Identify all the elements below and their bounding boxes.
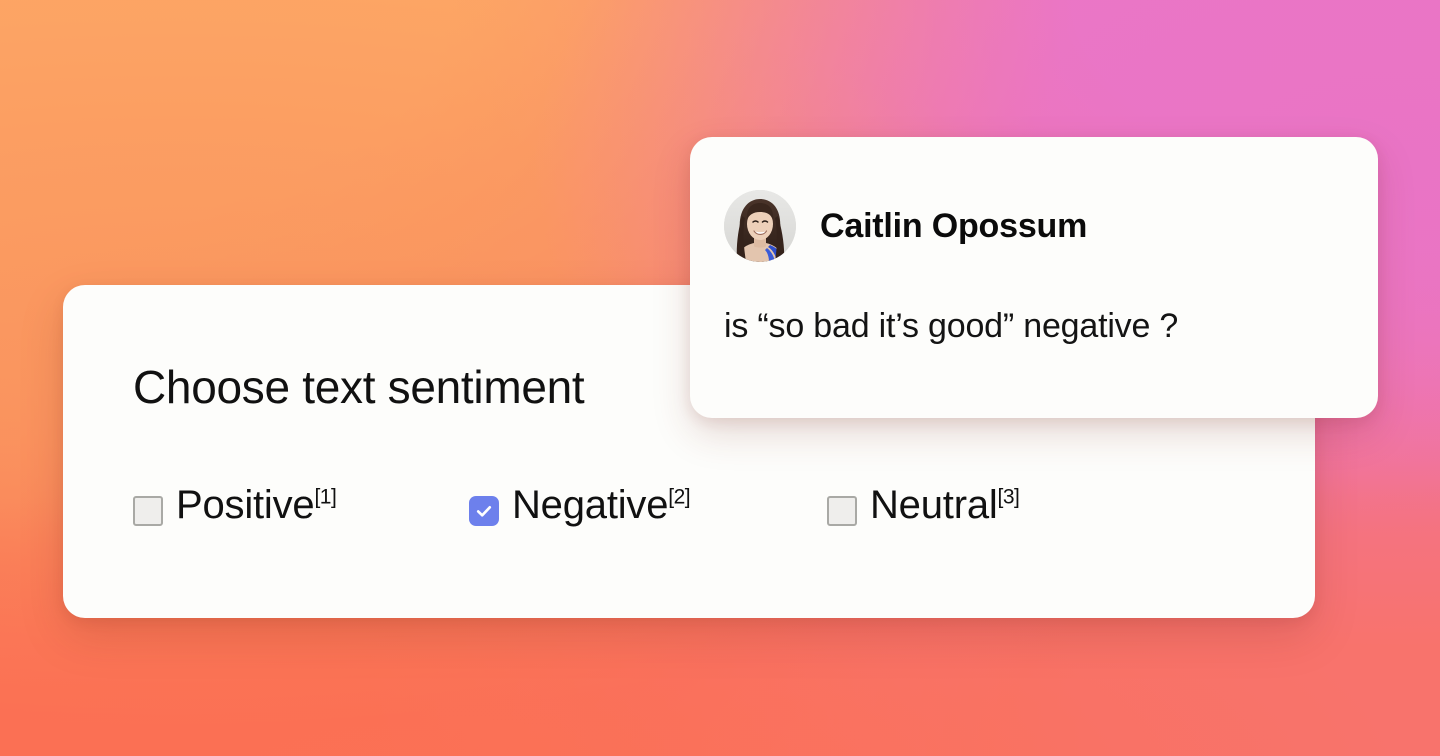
screenshot-canvas: Choose text sentiment Positive[1] Negati… [0,0,1440,756]
checkbox-unchecked-icon[interactable] [827,496,857,526]
message-body-text: is “so bad it’s good” negative ? [724,307,1178,346]
message-author-name: Caitlin Opossum [820,207,1087,246]
message-header: Caitlin Opossum [724,190,1087,262]
option-neutral-shortcut: [3] [998,486,1020,509]
option-neutral[interactable]: Neutral[3] [827,485,1127,526]
sentiment-options-group: Positive[1] Negative[2] Neutral[3] [133,485,1127,526]
option-neutral-label: Neutral[3] [870,485,1019,525]
avatar [724,190,796,262]
option-negative-shortcut: [2] [668,486,690,509]
option-negative-label: Negative[2] [512,485,690,525]
option-positive-text: Positive [176,483,314,527]
option-positive-shortcut: [1] [314,486,336,509]
option-neutral-text: Neutral [870,483,998,527]
option-positive-label: Positive[1] [176,485,336,525]
option-positive[interactable]: Positive[1] [133,485,469,526]
option-negative-text: Negative [512,483,668,527]
option-negative[interactable]: Negative[2] [469,485,827,526]
message-card: Caitlin Opossum is “so bad it’s good” ne… [690,137,1378,418]
checkbox-checked-icon[interactable] [469,496,499,526]
page-title: Choose text sentiment [133,360,584,414]
checkbox-unchecked-icon[interactable] [133,496,163,526]
